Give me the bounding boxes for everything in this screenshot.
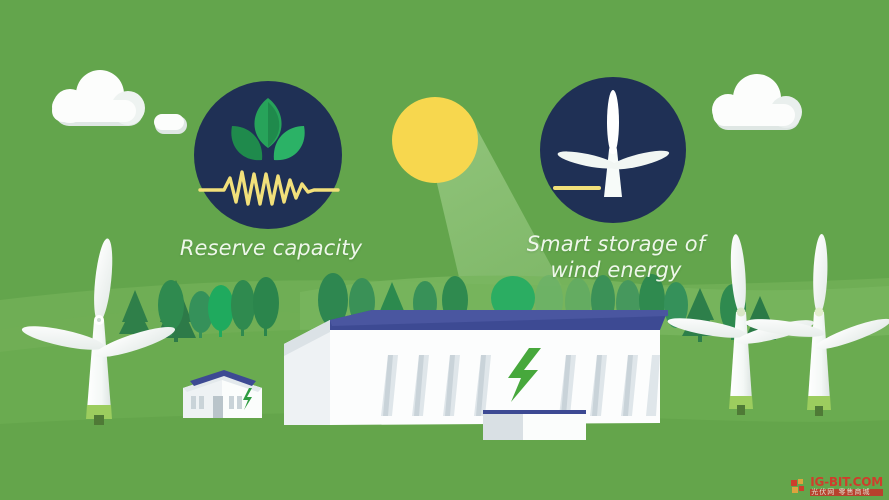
- cloud-icon: [52, 70, 145, 126]
- cloud-icon: [712, 74, 802, 130]
- clouds-layer: [0, 0, 889, 500]
- watermark-subtitle: 光伏网 零售商城: [810, 489, 883, 496]
- watermark: IG-BIT.COM 光伏网 零售商城: [790, 476, 883, 496]
- watermark-brand: IG-BIT.COM: [810, 476, 883, 488]
- small-cloud-icon: [154, 114, 187, 134]
- label-smart-storage: Smart storage of wind energy: [520, 232, 712, 283]
- label-reserve-capacity: Reserve capacity: [176, 236, 366, 262]
- illustration-scene: Reserve capacity Smart storage of wind e…: [0, 0, 889, 500]
- logo-icon: [790, 478, 807, 495]
